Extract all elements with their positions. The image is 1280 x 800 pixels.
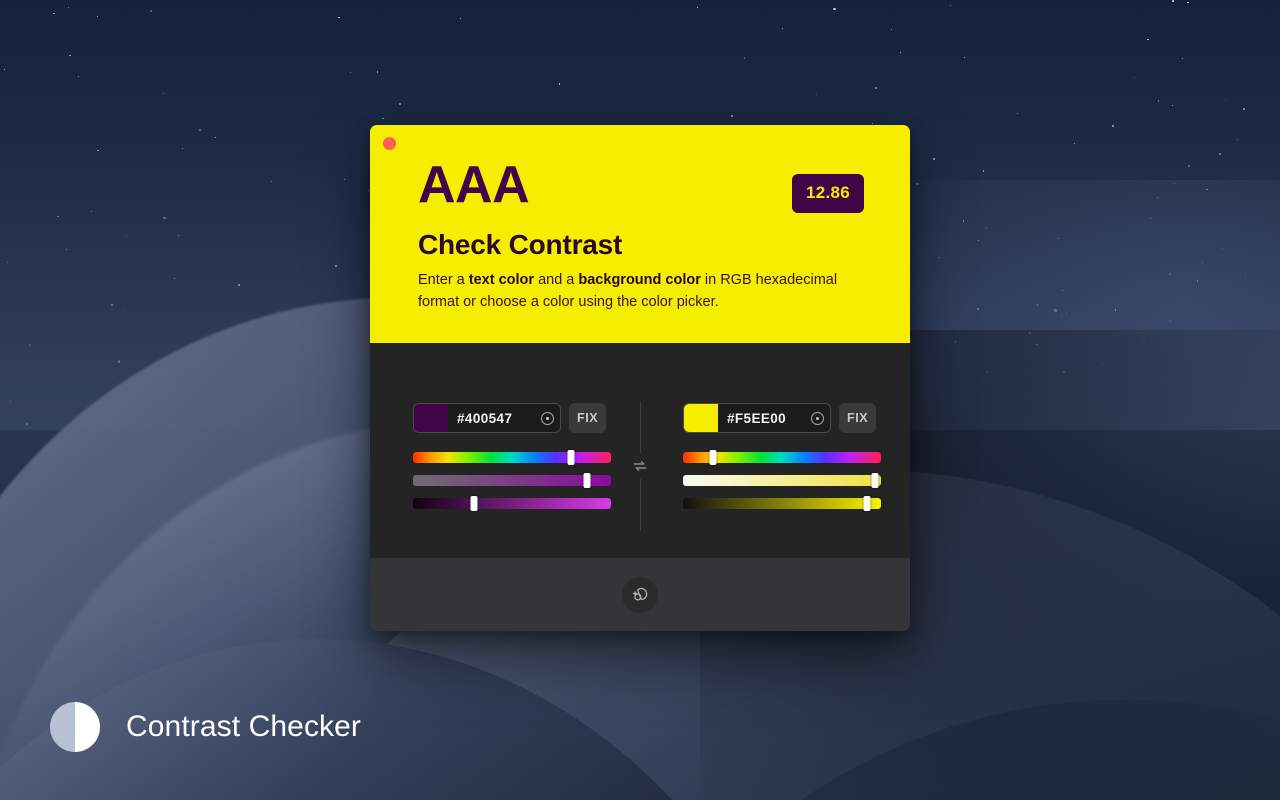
window-body: FIX xyxy=(370,343,910,558)
slider-thumb[interactable] xyxy=(709,450,716,465)
contrast-checker-window: AAA 12.86 Check Contrast Enter a text co… xyxy=(370,125,910,631)
background-color-hex-input[interactable] xyxy=(718,411,804,426)
background-color-hex-field[interactable] xyxy=(683,403,831,433)
contrast-half-circle-icon xyxy=(50,702,100,752)
text-color-picker-column: FIX xyxy=(413,403,611,509)
slider-thumb[interactable] xyxy=(471,496,478,511)
background-color-swatch[interactable] xyxy=(684,404,718,432)
header-description: Enter a text color and a background colo… xyxy=(418,269,870,314)
background-color-hex-row: FIX xyxy=(683,403,881,433)
slider-thumb[interactable] xyxy=(864,496,871,511)
swap-colors-button[interactable] xyxy=(629,455,651,477)
contrast-score-badge: 12.86 xyxy=(792,174,864,213)
color-picker-target-icon[interactable] xyxy=(804,411,830,426)
slider-thumb[interactable] xyxy=(872,473,879,488)
background-color-picker-column: FIX xyxy=(683,403,881,509)
text-color-lightness-slider[interactable] xyxy=(413,498,611,509)
page-title: Check Contrast xyxy=(418,229,622,261)
desktop-app-label: Contrast Checker xyxy=(50,702,361,752)
text-color-fix-button[interactable]: FIX xyxy=(569,403,606,433)
window-footer xyxy=(370,558,910,631)
divider-line-bottom xyxy=(640,479,641,531)
text-color-hex-input[interactable] xyxy=(448,411,534,426)
column-divider xyxy=(640,401,641,531)
close-window-button[interactable] xyxy=(383,137,396,150)
text-color-sliders xyxy=(413,452,611,509)
background-color-saturation-slider[interactable] xyxy=(683,475,881,486)
add-palette-icon xyxy=(631,585,650,604)
divider-line-top xyxy=(640,401,641,453)
desc-bold-text-color: text color xyxy=(469,272,534,288)
window-header: AAA 12.86 Check Contrast Enter a text co… xyxy=(370,125,910,343)
rating-label: AAA xyxy=(418,159,529,211)
text-color-hue-slider[interactable] xyxy=(413,452,611,463)
app-title: Contrast Checker xyxy=(126,710,361,744)
background-color-lightness-slider[interactable] xyxy=(683,498,881,509)
add-palette-button[interactable] xyxy=(622,577,658,613)
text-color-hex-row: FIX xyxy=(413,403,611,433)
desc-bold-background-color: background color xyxy=(578,272,700,288)
desc-part-2: and a xyxy=(534,272,578,288)
text-color-saturation-slider[interactable] xyxy=(413,475,611,486)
background-color-hue-slider[interactable] xyxy=(683,452,881,463)
slider-thumb[interactable] xyxy=(568,450,575,465)
slider-thumb[interactable] xyxy=(584,473,591,488)
background-color-sliders xyxy=(683,452,881,509)
background-color-fix-button[interactable]: FIX xyxy=(839,403,876,433)
text-color-hex-field[interactable] xyxy=(413,403,561,433)
desc-part-1: Enter a xyxy=(418,272,469,288)
color-picker-target-icon[interactable] xyxy=(534,411,560,426)
desktop: AAA 12.86 Check Contrast Enter a text co… xyxy=(0,0,1280,800)
text-color-swatch[interactable] xyxy=(414,404,448,432)
